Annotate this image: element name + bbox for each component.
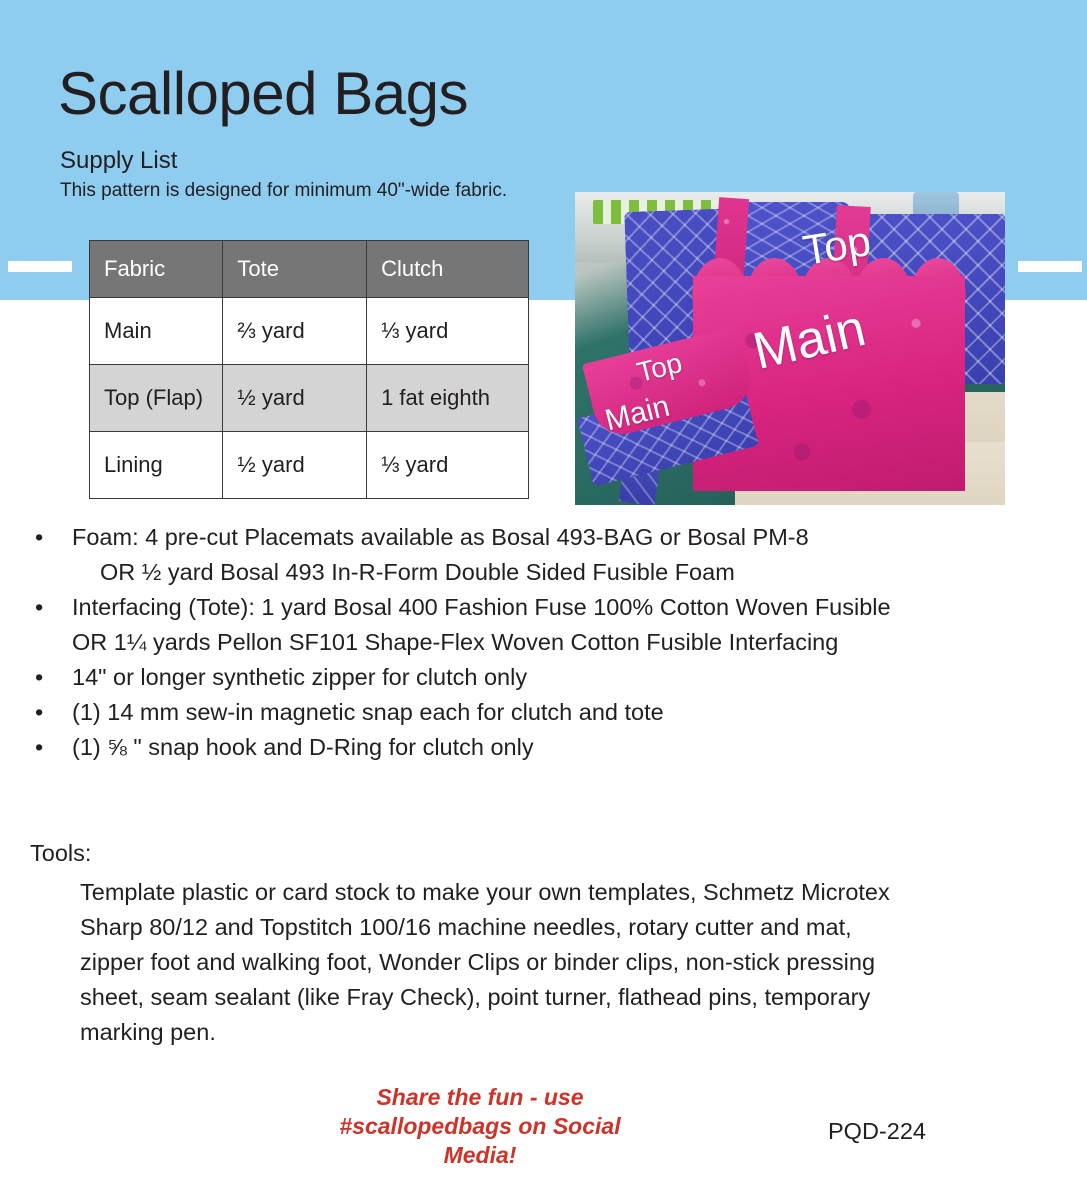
table-row: Lining ½ yard ⅓ yard	[90, 432, 529, 499]
page-title: Scalloped Bags	[58, 62, 468, 125]
list-item: • Foam: 4 pre-cut Placemats available as…	[30, 520, 930, 590]
list-item: • (1) 14 mm sew-in magnetic snap each fo…	[30, 695, 930, 730]
list-item: • (1) ⅝ " snap hook and D-Ring for clutc…	[30, 730, 930, 765]
tools-description: Template plastic or card stock to make y…	[80, 875, 902, 1050]
list-item-text: 14" or longer synthetic zipper for clutc…	[72, 664, 527, 690]
column-header-tote: Tote	[223, 241, 367, 298]
cell-tote: ½ yard	[223, 432, 367, 499]
supply-bullet-list: • Foam: 4 pre-cut Placemats available as…	[30, 520, 930, 765]
list-item-text: Interfacing (Tote): 1 yard Bosal 400 Fas…	[72, 594, 891, 655]
table-row: Main ⅔ yard ⅓ yard	[90, 298, 529, 365]
bullet-icon: •	[35, 660, 43, 695]
cell-tote: ½ yard	[223, 365, 367, 432]
bullet-icon: •	[35, 590, 43, 625]
bullet-icon: •	[35, 695, 43, 730]
supply-table: Fabric Tote Clutch Main ⅔ yard ⅓ yard To…	[89, 240, 529, 499]
table-row: Top (Flap) ½ yard 1 fat eighth	[90, 365, 529, 432]
share-callout: Share the fun - use #scallopedbags on So…	[330, 1083, 630, 1170]
list-item: • Interfacing (Tote): 1 yard Bosal 400 F…	[30, 590, 930, 660]
column-header-fabric: Fabric	[90, 241, 223, 298]
list-item-text-cont: OR ½ yard Bosal 493 In-R-Form Double Sid…	[72, 555, 930, 590]
cell-fabric: Top (Flap)	[90, 365, 223, 432]
cell-fabric: Main	[90, 298, 223, 365]
table-header-row: Fabric Tote Clutch	[90, 241, 529, 298]
bullet-icon: •	[35, 520, 43, 555]
page-subtitle: Supply List	[60, 147, 177, 175]
product-code: PQD-224	[828, 1118, 926, 1145]
cell-clutch: ⅓ yard	[367, 432, 529, 499]
cell-fabric: Lining	[90, 432, 223, 499]
list-item-text: Foam: 4 pre-cut Placemats available as B…	[72, 524, 809, 550]
cell-clutch: ⅓ yard	[367, 298, 529, 365]
list-item-text: (1) 14 mm sew-in magnetic snap each for …	[72, 699, 664, 725]
column-header-clutch: Clutch	[367, 241, 529, 298]
product-photo: Top Main Top Main	[575, 192, 1005, 505]
cell-tote: ⅔ yard	[223, 298, 367, 365]
bullet-icon: •	[35, 730, 43, 765]
list-item-text: (1) ⅝ " snap hook and D-Ring for clutch …	[72, 734, 534, 760]
tools-heading: Tools:	[30, 840, 91, 867]
cell-clutch: 1 fat eighth	[367, 365, 529, 432]
list-item: • 14" or longer synthetic zipper for clu…	[30, 660, 930, 695]
page-tagline: This pattern is designed for minimum 40"…	[60, 180, 507, 202]
